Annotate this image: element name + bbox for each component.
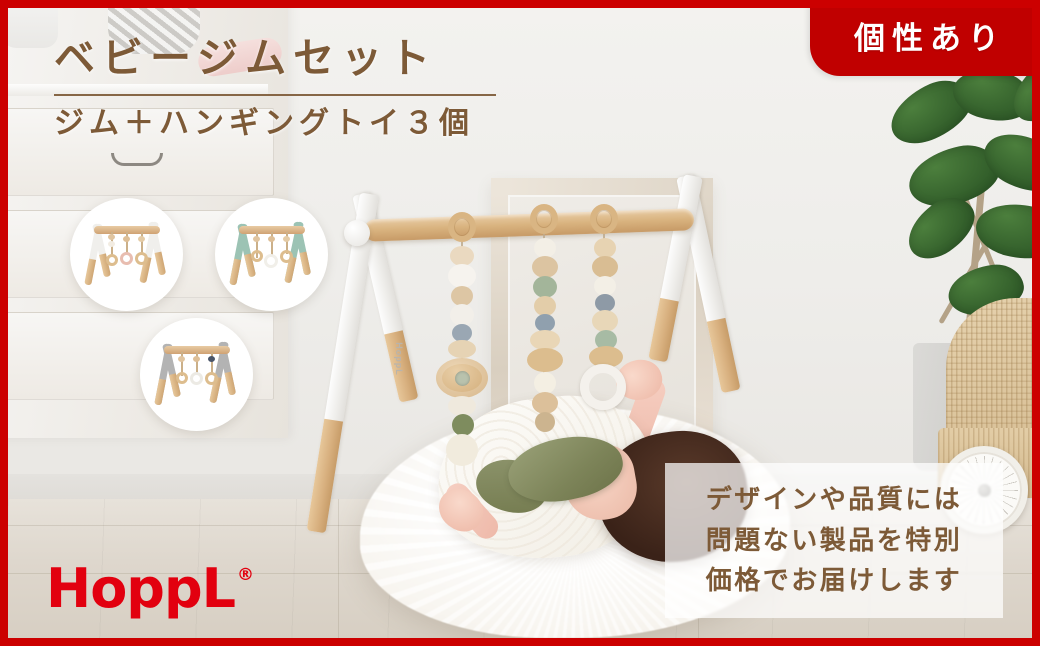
page-subtitle: ジム＋ハンギングトイ３個 [54, 106, 504, 142]
mini-toy-ring [190, 372, 203, 385]
page-title: ベビージムセット [54, 34, 504, 82]
badge-label: 個性あり [854, 23, 1006, 54]
toy-bead [594, 238, 616, 258]
toy-bead [534, 296, 556, 316]
mini-toy-ring [280, 250, 293, 263]
toy-bead [446, 434, 478, 466]
mini-toy-bead [138, 236, 145, 242]
logo-wordmark: HoppL [46, 562, 235, 616]
toy-bead [451, 286, 473, 306]
mini-toy-bead [108, 234, 115, 240]
mini-toy-bead [253, 236, 260, 242]
trademark-icon: ® [237, 565, 254, 585]
mini-gym-sage [215, 198, 328, 311]
toy-bead [532, 392, 558, 414]
toy-bead [535, 412, 555, 432]
promo-banner: HoppL [0, 0, 1040, 646]
mini-toy-ring [251, 250, 263, 262]
variant-thumbnail-gray[interactable] [140, 318, 253, 431]
note-line-1: デザインや品質には [706, 482, 963, 518]
toy-bead [534, 372, 556, 394]
status-badge: 個性あり [810, 0, 1040, 76]
mini-toy-bead [268, 236, 275, 242]
mini-toy-ring [106, 254, 118, 266]
drawer-pull [111, 153, 163, 166]
mini-toy-ring [176, 372, 188, 384]
variant-thumbnail-sage[interactable] [215, 198, 328, 311]
toy-bead [534, 238, 556, 258]
toy-bead [527, 348, 563, 372]
toy-bead [594, 276, 616, 296]
toy-bead [530, 330, 560, 350]
mini-toy-ring [135, 252, 148, 265]
mini-toy-bead [108, 241, 115, 247]
toy-hanger-ring [530, 204, 558, 234]
toy-bead [448, 264, 476, 288]
mini-toy-bead [178, 356, 185, 362]
headline-block: ベビージムセット ジム＋ハンギングトイ３個 [54, 34, 504, 142]
toy-bead [592, 310, 618, 332]
note-line-2: 問題ない製品を特別 [706, 523, 963, 559]
toy-teether-ring [580, 364, 626, 410]
mini-gym-white [70, 198, 183, 311]
toy-bead [448, 396, 476, 416]
mini-toy-bead [283, 236, 290, 242]
toy-hanger-ring [448, 212, 476, 242]
mini-toy-ring [120, 252, 133, 265]
mini-toy-ring [264, 254, 278, 268]
toy-bead [532, 256, 558, 278]
mini-toy-bead [208, 356, 215, 362]
note-line-3: 価格でお届けします [706, 563, 963, 599]
mini-toy-bead [123, 236, 130, 242]
mini-toy-bead [193, 356, 200, 362]
toy-bead [448, 340, 476, 358]
toy-bead [452, 414, 474, 436]
promo-note-box: デザインや品質には 問題ない製品を特別 価格でお届けします [665, 463, 1003, 618]
toy-wooden-disc [436, 358, 488, 398]
toy-bead [450, 246, 474, 266]
toy-bead [450, 304, 474, 326]
gym-knob [344, 220, 370, 246]
toy-bead [592, 256, 618, 278]
mini-toy-ring [205, 372, 218, 385]
mini-gym-gray [140, 318, 253, 431]
gym-top-bar [364, 208, 695, 242]
variant-thumbnail-white[interactable] [70, 198, 183, 311]
toy-hanger-ring [590, 204, 618, 234]
vase-small [8, 8, 58, 48]
hoppl-brand-stamp: HoppL [394, 342, 404, 376]
title-divider [54, 94, 496, 96]
toy-bead [533, 276, 557, 298]
brand-logo: HoppL ® [46, 562, 254, 616]
